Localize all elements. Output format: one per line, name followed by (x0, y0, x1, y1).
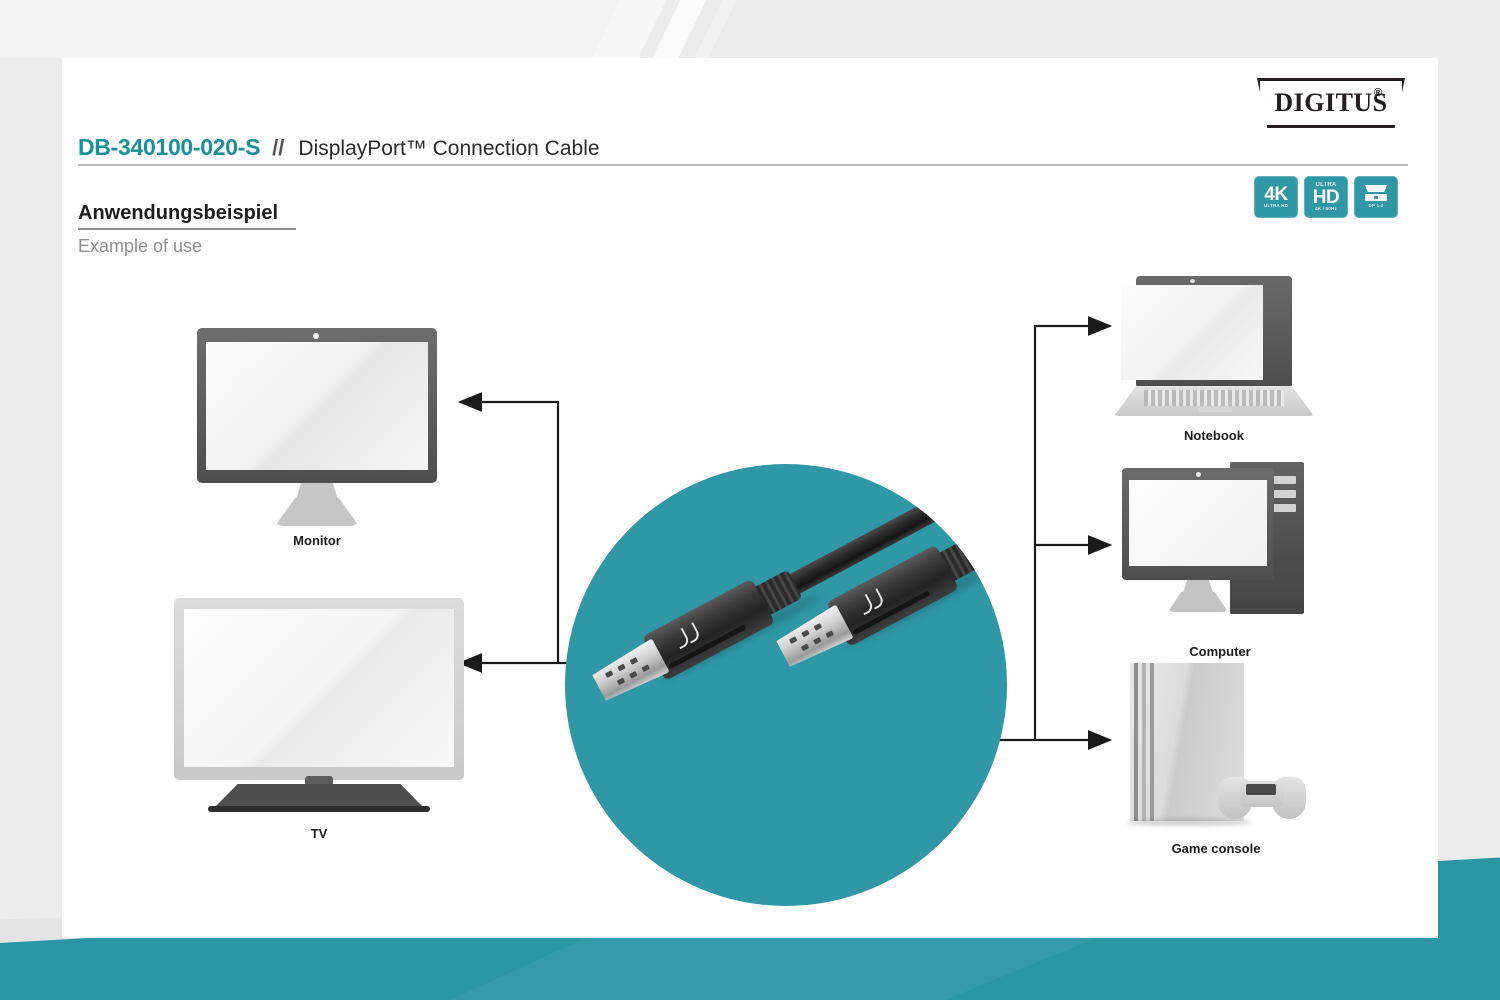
device-game-console: Game console (1110, 663, 1322, 878)
console-stripe (1134, 663, 1138, 821)
webcam-icon (1190, 279, 1195, 283)
webcam-icon (1196, 472, 1201, 477)
line-to-monitor (460, 402, 558, 663)
line-to-notebook (1035, 326, 1110, 740)
monitor-screen (206, 342, 428, 470)
console-stripe (1150, 663, 1154, 821)
webcam-icon (313, 333, 319, 339)
computer-stand-base (1168, 592, 1228, 612)
device-computer: Computer (1122, 468, 1318, 678)
notebook-trackpad (1198, 407, 1232, 412)
usage-diagram: Monitor TV Notebook (62, 58, 1438, 938)
computer-monitor-screen (1129, 480, 1267, 566)
device-label-computer: Computer (1122, 644, 1318, 659)
device-label-monitor: Monitor (197, 533, 437, 548)
notebook-keyboard (1144, 390, 1284, 406)
page-sheet: DIGITUS ® DB-340100-020-S // DisplayPort… (62, 58, 1438, 938)
monitor-stand-base (275, 498, 359, 526)
device-label-notebook: Notebook (1114, 428, 1314, 443)
device-tv: TV (174, 598, 464, 848)
device-notebook: Notebook (1114, 276, 1314, 461)
datasheet-page: DIGITUS ® DB-340100-020-S // DisplayPort… (0, 0, 1500, 1000)
device-label-tv: TV (174, 826, 464, 841)
product-photo-circle (565, 464, 1007, 906)
console-stripe (1142, 663, 1146, 821)
tv-stand-base-edge (208, 806, 430, 812)
device-label-game-console: Game console (1110, 841, 1322, 856)
gamepad-controller (1218, 771, 1306, 823)
background-top-left-block (0, 0, 640, 58)
notebook-screen (1121, 285, 1263, 380)
device-monitor: Monitor (197, 328, 437, 538)
gamepad-touchpad (1246, 784, 1276, 795)
tv-screen (184, 609, 454, 767)
